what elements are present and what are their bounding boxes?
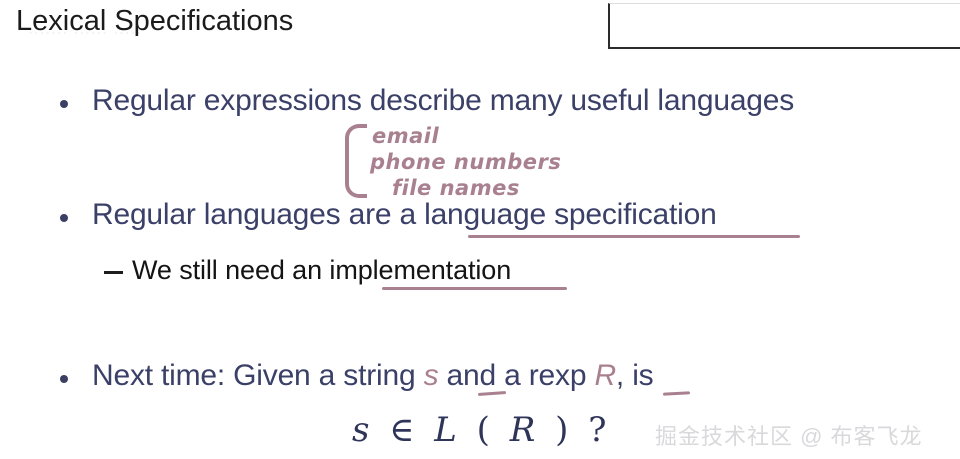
- slide-title: Lexical Specifications: [16, 5, 293, 38]
- bullet-item-1: Regular expressions describe many useful…: [92, 84, 794, 118]
- pen-underline-variable-s: [478, 391, 506, 395]
- bullet-item-3-text-underlined: implementation: [329, 255, 511, 285]
- bullet-marker-dot: [60, 375, 68, 383]
- formula-paren-open: (: [477, 410, 490, 450]
- bullet-item-3-text-lead: We still need an: [132, 255, 329, 285]
- bullet-item-2-text-lead: Regular languages are a: [92, 198, 424, 231]
- formula-question-mark: ?: [588, 410, 606, 450]
- math-formula: s ∈ L ( R ) ?: [352, 410, 606, 450]
- bullet-item-4: Next time: Given a string s and a rexp R…: [92, 359, 653, 393]
- bullet-marker-dot: [60, 100, 68, 108]
- pen-underline-language-specification: [468, 235, 800, 238]
- presentation-slide: ....... ...... ..... Lexical Specificati…: [0, 0, 960, 459]
- handwritten-note-email: email: [372, 124, 439, 148]
- bullet-item-4-text-mid: and a rexp: [438, 359, 594, 392]
- bullet-marker-dot: [60, 214, 68, 222]
- formula-var-s: s: [352, 410, 369, 450]
- bullet-item-2-text-underlined: language specification: [424, 198, 716, 231]
- pen-variable-s: s: [424, 359, 439, 392]
- formula-var-r: R: [510, 410, 536, 450]
- bullet-item-3: We still need an implementation: [132, 255, 511, 286]
- formula-member-of-icon: ∈: [389, 410, 414, 450]
- bullet-item-2: Regular languages are a language specifi…: [92, 198, 717, 232]
- bullet-item-1-text: Regular expressions describe many useful…: [92, 84, 794, 117]
- handwritten-brace-icon: [345, 124, 367, 198]
- formula-func-l: L: [434, 410, 457, 450]
- pen-variable-r: R: [594, 359, 615, 392]
- bullet-item-4-text-tail: , is: [616, 359, 654, 392]
- formula-paren-close: ): [555, 410, 568, 450]
- slide-title-box: [608, 3, 960, 49]
- pen-underline-implementation: [382, 287, 567, 290]
- handwritten-note-file-names: file names: [392, 176, 520, 200]
- bullet-marker-dash: [104, 271, 123, 274]
- watermark: 掘金技术社区 @ 布客飞龙: [655, 419, 923, 451]
- bullet-item-4-text-lead: Next time: Given a string: [92, 359, 424, 392]
- handwritten-note-phone-numbers: phone numbers: [370, 150, 561, 174]
- pen-underline-variable-r: [663, 391, 690, 395]
